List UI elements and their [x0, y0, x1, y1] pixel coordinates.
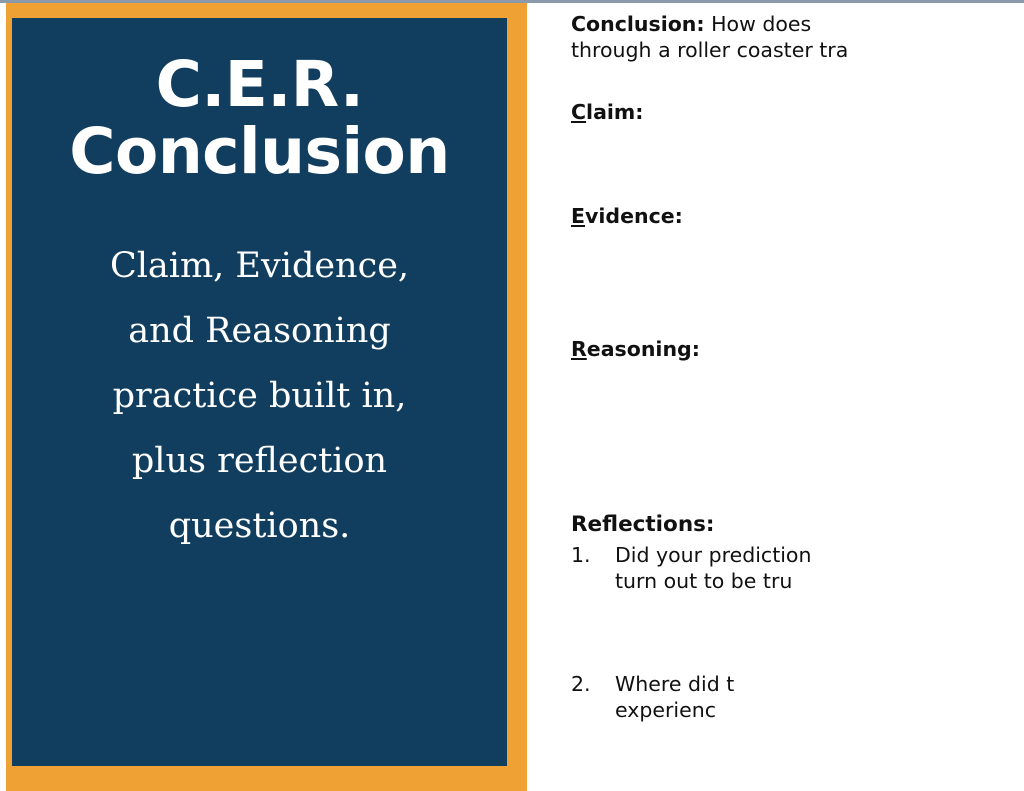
page-subtitle-line-3: practice built in,	[42, 364, 477, 429]
worksheet-conclusion-label: Conclusion:	[571, 12, 705, 36]
worksheet-reflection-line1: Where did t	[615, 671, 734, 697]
worksheet-evidence-rest: vidence:	[585, 204, 683, 228]
worksheet-conclusion-prompt-line1: How does	[711, 12, 811, 36]
worksheet-reasoning-label: Reasoning:	[571, 336, 700, 362]
page-title-line-2: Conclusion	[42, 119, 477, 186]
worksheet-page: Conclusion: How does through a roller co…	[527, 3, 1024, 791]
worksheet-claim-label: Claim:	[571, 99, 644, 125]
worksheet-reflection-number: 2.	[571, 671, 615, 723]
worksheet-evidence-initial: E	[571, 204, 585, 228]
page-subtitle-line-4: plus reflection	[42, 429, 477, 494]
top-hairline-divider	[0, 0, 1024, 3]
worksheet-evidence-label: Evidence:	[571, 203, 683, 229]
page-title: C.E.R. Conclusion	[42, 52, 477, 186]
worksheet-reasoning-suffix: :	[692, 337, 700, 361]
title-card: C.E.R. Conclusion Claim, Evidence, and R…	[12, 18, 507, 766]
worksheet-reflections-heading: Reflections:	[571, 511, 715, 539]
worksheet-conclusion-block: Conclusion: How does through a roller co…	[571, 11, 848, 63]
worksheet-reflection-line2: turn out to be tru	[615, 568, 811, 594]
page-subtitle: Claim, Evidence, and Reasoning practice …	[42, 234, 477, 559]
worksheet-claim-initial: C	[571, 100, 586, 124]
page-subtitle-line-2: and Reasoning	[42, 299, 477, 364]
worksheet-reasoning-initial: R	[571, 337, 587, 361]
worksheet-reflection-text: Did your prediction turn out to be tru	[615, 542, 811, 594]
worksheet-reflection-item: 1. Did your prediction turn out to be tr…	[571, 542, 811, 594]
worksheet-conclusion-line1: Conclusion: How does	[571, 11, 848, 37]
page-subtitle-line-1: Claim, Evidence,	[42, 234, 477, 299]
page-title-line-1: C.E.R.	[42, 52, 477, 119]
worksheet-claim-rest: laim:	[586, 100, 643, 124]
worksheet-reflection-number: 1.	[571, 542, 615, 594]
worksheet-reflection-text: Where did t experienc	[615, 671, 734, 723]
slide-canvas: Conclusion: How does through a roller co…	[0, 0, 1024, 791]
page-subtitle-line-5: questions.	[42, 494, 477, 559]
worksheet-reflection-item: 2. Where did t experienc	[571, 671, 734, 723]
worksheet-reflection-line2: experienc	[615, 697, 734, 723]
worksheet-reasoning-rest: easoning	[587, 337, 692, 361]
worksheet-reflection-line1: Did your prediction	[615, 542, 811, 568]
worksheet-conclusion-prompt-line2: through a roller coaster tra	[571, 37, 848, 63]
